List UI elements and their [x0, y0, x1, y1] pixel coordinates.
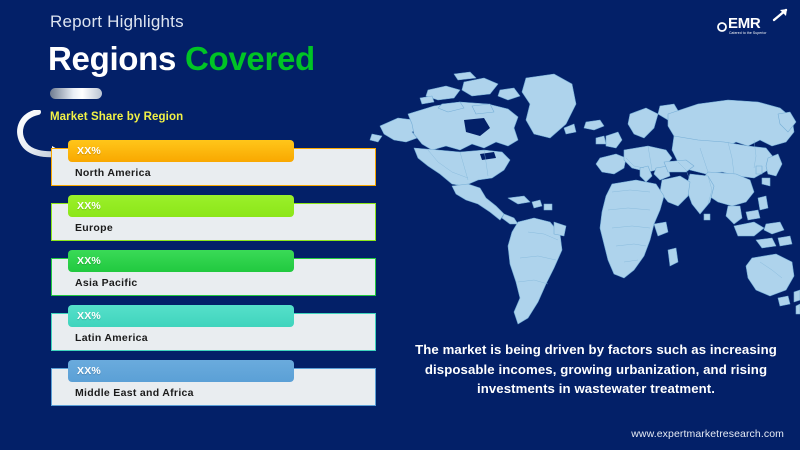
region-label: Latin America — [75, 332, 148, 344]
chart-row[interactable]: XX% North America — [51, 140, 376, 186]
bar-asia-pacific: XX% — [68, 250, 294, 272]
bar-latin-america: XX% — [68, 305, 294, 327]
region-label: Europe — [75, 222, 113, 234]
bar-middle-east-and-africa: XX% — [68, 360, 294, 382]
svg-text:EMR: EMR — [728, 15, 761, 32]
chart-row[interactable]: XX% Middle East and Africa — [51, 360, 376, 406]
chart-row[interactable]: XX% Europe — [51, 195, 376, 241]
chart-row[interactable]: XX% Asia Pacific — [51, 250, 376, 296]
bar-europe: XX% — [68, 195, 294, 217]
chart-row[interactable]: XX% Latin America — [51, 305, 376, 351]
bar-value-label: XX% — [77, 145, 101, 157]
region-label: Asia Pacific — [75, 277, 138, 289]
footer-url[interactable]: www.expertmarketresearch.com — [631, 428, 784, 440]
bar-value-label: XX% — [77, 365, 101, 377]
market-driver-text: The market is being driven by factors su… — [405, 340, 787, 399]
world-map — [368, 62, 800, 330]
bar-value-label: XX% — [77, 200, 101, 212]
slide-canvas: Report Highlights Regions Covered Market… — [0, 0, 800, 450]
bar-north-america: XX% — [68, 140, 294, 162]
market-share-chart: XX% North America XX% Europe XX% Asia Pa… — [0, 0, 400, 450]
emr-logo[interactable]: EMR Catered to the Superior — [716, 8, 790, 38]
bar-value-label: XX% — [77, 310, 101, 322]
bar-value-label: XX% — [77, 255, 101, 267]
region-label: Middle East and Africa — [75, 387, 194, 399]
region-label: North America — [75, 167, 151, 179]
emr-logo-tagline: Catered to the Superior — [729, 31, 767, 35]
